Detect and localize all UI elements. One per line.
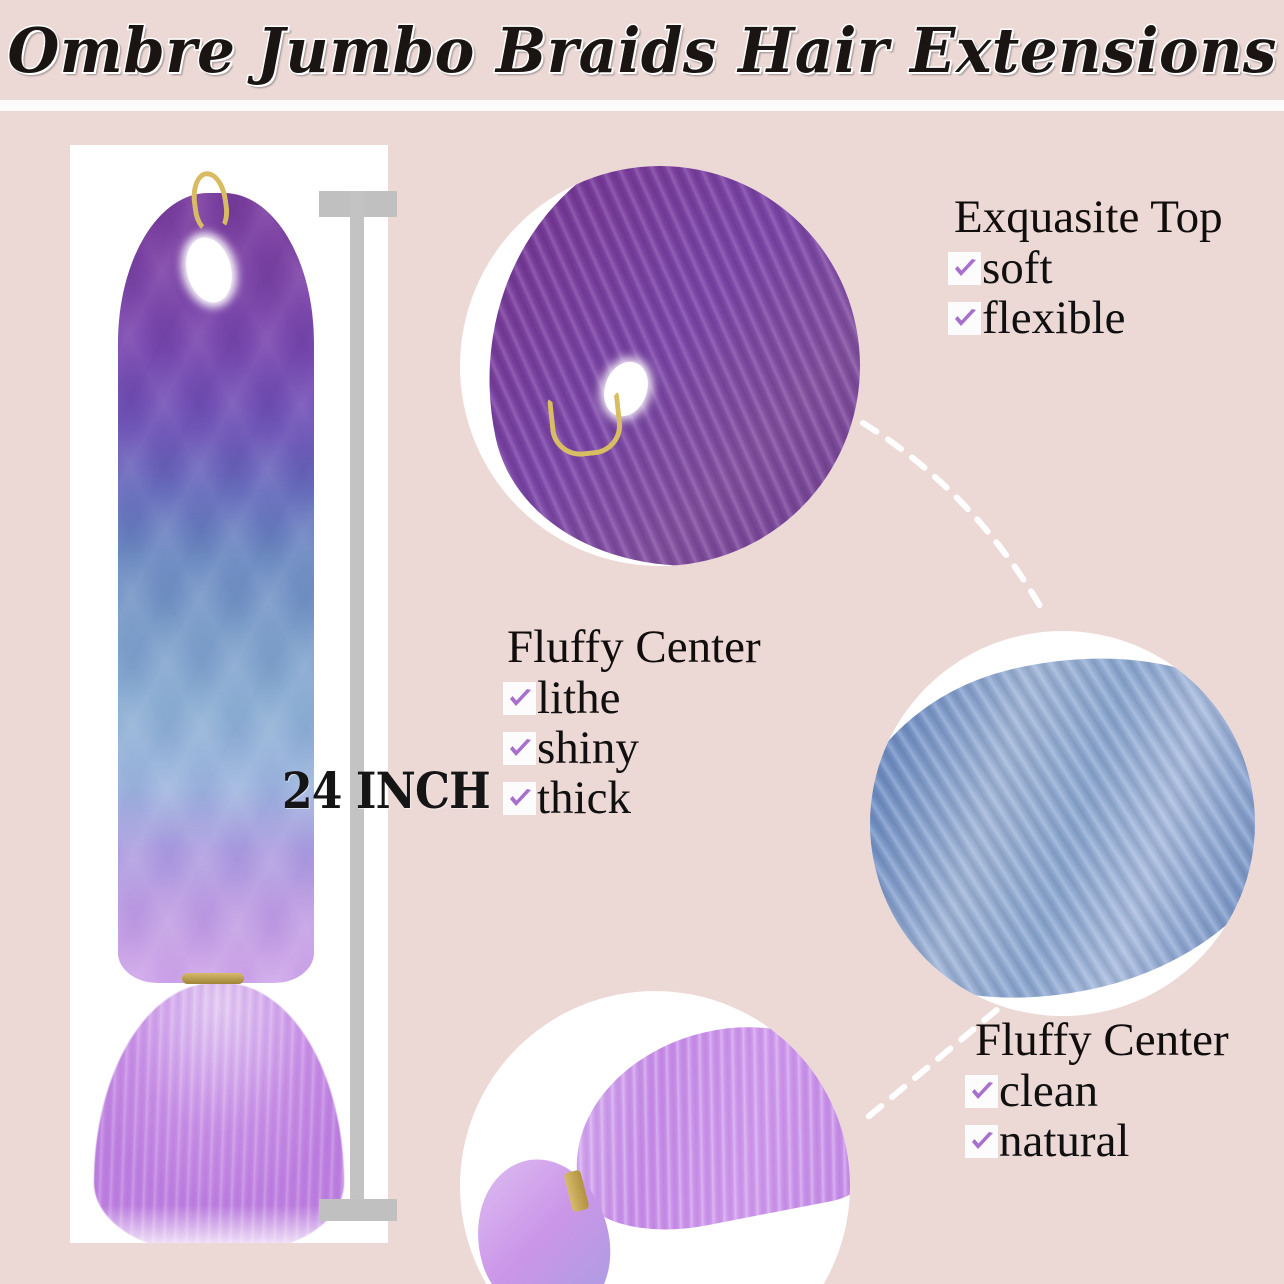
feature-item: shiny (503, 725, 761, 772)
feature-label: soft (982, 245, 1053, 292)
product-infographic: Ombre Jumbo Braids Hair Extensions 24 IN… (0, 0, 1284, 1284)
feature-title: Fluffy Center (507, 623, 761, 672)
connector-top-to-mid (855, 401, 1085, 641)
hair-center-closeup-blue (870, 631, 1255, 1016)
feature-list: lithe shiny thick (503, 675, 761, 822)
ruler-stem (350, 191, 364, 1221)
feature-item: thick (503, 775, 761, 822)
check-icon (503, 732, 536, 765)
blue-hair-texture (870, 631, 1255, 1016)
hair-ends-closeup-lavender (460, 991, 850, 1284)
feature-block-exquasite-top: Exquasite Top soft f (948, 193, 1223, 342)
feature-label: shiny (537, 725, 639, 772)
infographic-canvas: 24 INCH (0, 111, 1284, 1284)
check-icon (965, 1125, 998, 1158)
ruler-bottom-cap (319, 1199, 397, 1221)
feature-item: flexible (948, 295, 1223, 342)
feature-title: Fluffy Center (975, 1016, 1229, 1065)
check-icon (948, 252, 981, 285)
feature-item: natural (965, 1118, 1229, 1165)
mid-elastic-band-icon (182, 973, 244, 984)
feature-block-fluffy-center-middle: Fluffy Center lithe (503, 623, 761, 822)
feature-list: soft flexible (948, 245, 1223, 342)
closeup-lavender-image (460, 991, 850, 1284)
feature-item: lithe (503, 675, 761, 722)
feature-label: thick (537, 775, 631, 822)
closeup-purple-image (460, 166, 860, 566)
hair-top-closeup-purple (460, 166, 860, 566)
page-title: Ombre Jumbo Braids Hair Extensions (7, 14, 1276, 87)
check-icon (948, 302, 981, 335)
braid-tail-fiber-texture (94, 983, 344, 1243)
feature-item: soft (948, 245, 1223, 292)
feature-list: clean natural (965, 1068, 1229, 1165)
feature-block-fluffy-center-bottom: Fluffy Center clean (965, 1016, 1229, 1165)
title-banner: Ombre Jumbo Braids Hair Extensions (0, 0, 1284, 100)
check-icon (503, 682, 536, 715)
feature-label: clean (999, 1068, 1098, 1115)
length-label: 24 INCH (282, 761, 490, 820)
closeup-blue-image (870, 631, 1255, 1016)
braid-strand-texture (118, 193, 314, 983)
feature-title: Exquasite Top (954, 193, 1223, 242)
title-divider (0, 100, 1284, 111)
length-measure-ruler (318, 191, 398, 1221)
check-icon (503, 782, 536, 815)
feature-item: clean (965, 1068, 1229, 1115)
feature-label: natural (999, 1118, 1130, 1165)
feature-label: lithe (537, 675, 621, 722)
feature-label: flexible (982, 295, 1126, 342)
purple-hair-texture (460, 166, 860, 566)
check-icon (965, 1075, 998, 1108)
